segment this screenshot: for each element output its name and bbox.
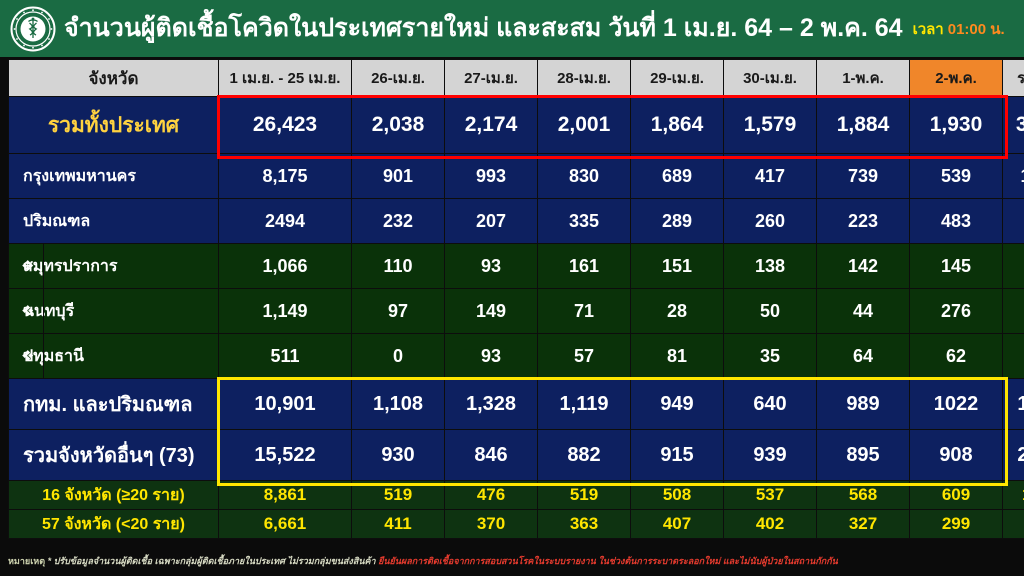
cell-total-r6: 18,056 <box>1003 379 1024 430</box>
cell-r6-c1: 1,108 <box>352 379 445 430</box>
column-header-range: 1 เม.ย. - 25 เม.ย. <box>219 60 352 97</box>
cell-r6-c6: 989 <box>817 379 910 430</box>
page-title: จำนวนผู้ติดเชื้อโควิดในประเทศรายใหม่ และ… <box>64 16 903 41</box>
column-header-province: จังหวัด <box>9 60 219 97</box>
cell-r7-c5: 939 <box>724 430 817 481</box>
table-row: ปริมณฑล24942322073352892602234834,290 <box>9 199 1024 244</box>
cell-total-r4: 1,864 <box>1003 289 1024 334</box>
cell-r3-c6: 142 <box>817 244 910 289</box>
cell-r1-c1: 901 <box>352 154 445 199</box>
column-header-apr30: 30-เม.ย. <box>724 60 817 97</box>
cell-r3-c1: 110 <box>352 244 445 289</box>
cell-r7-c0: 15,522 <box>219 430 352 481</box>
cell-r5-c1: 0 <box>352 334 445 379</box>
cell-r9-c0: 6,661 <box>219 510 352 539</box>
row-label-7: รวมจังหวัดอื่นๆ (73) <box>9 430 219 481</box>
table-row: 16 จังหวัด (≥20 ราย)8,861519476519508537… <box>9 481 1024 510</box>
column-header-apr28: 28-เม.ย. <box>538 60 631 97</box>
cell-r7-c4: 915 <box>631 430 724 481</box>
row-label-2: ปริมณฑล <box>9 199 219 244</box>
row-label-1: กรุงเทพมหานคร <box>9 154 219 199</box>
table-row: ❖ปทุมธานี5110935781356462903 <box>9 334 1024 379</box>
cell-r4-c5: 50 <box>724 289 817 334</box>
label-divider <box>43 289 44 333</box>
cell-r1-c3: 830 <box>538 154 631 199</box>
cell-r9-c5: 402 <box>724 510 817 539</box>
cell-r3-c4: 151 <box>631 244 724 289</box>
cell-r4-c0: 1,149 <box>219 289 352 334</box>
cell-r0-c2: 2,174 <box>445 97 538 154</box>
page-header-banner: จำนวนผู้ติดเชื้อโควิดในประเทศรายใหม่ และ… <box>0 0 1024 57</box>
cell-total-r7: 21,837 <box>1003 430 1024 481</box>
cell-r1-c0: 8,175 <box>219 154 352 199</box>
cell-r0-c6: 1,884 <box>817 97 910 154</box>
row-label-text: สมุทรปราการ <box>23 258 117 275</box>
table-row: 57 จังหวัด (<20 ราย)6,661411370363407402… <box>9 510 1024 539</box>
cell-r5-c6: 64 <box>817 334 910 379</box>
label-divider <box>43 334 44 378</box>
row-label-4: ❖นนทบุรี <box>9 289 219 334</box>
column-header-may02: 2-พ.ค. <box>910 60 1003 97</box>
cell-r2-c4: 289 <box>631 199 724 244</box>
cell-r0-c1: 2,038 <box>352 97 445 154</box>
cell-r8-c5: 537 <box>724 481 817 510</box>
cell-r7-c2: 846 <box>445 430 538 481</box>
cell-total-r5: 903 <box>1003 334 1024 379</box>
column-header-may01: 1-พ.ค. <box>817 60 910 97</box>
table-body: รวมทั้งประเทศ26,4232,0382,1742,0011,8641… <box>9 97 1024 539</box>
bullet-diamond-icon: ❖ <box>21 347 34 365</box>
cell-r3-c0: 1,066 <box>219 244 352 289</box>
cell-r4-c1: 97 <box>352 289 445 334</box>
column-header-apr26: 26-เม.ย. <box>352 60 445 97</box>
covid-statistics-table: จังหวัด 1 เม.ย. - 25 เม.ย. 26-เม.ย. 27-เ… <box>8 59 1024 539</box>
cell-r3-c7: 145 <box>910 244 1003 289</box>
cell-r8-c4: 508 <box>631 481 724 510</box>
row-label-9: 57 จังหวัด (<20 ราย) <box>9 510 219 539</box>
footnote-part-2: ยืนยันผลการติดเชื้อจากการสอบสวนโรคในระบบ… <box>378 556 838 566</box>
cell-r2-c1: 232 <box>352 199 445 244</box>
cell-r9-c7: 299 <box>910 510 1003 539</box>
row-label-5: ❖ปทุมธานี <box>9 334 219 379</box>
cell-r6-c2: 1,328 <box>445 379 538 430</box>
cell-r9-c6: 327 <box>817 510 910 539</box>
report-time-value: 01:00 น. <box>948 17 1005 41</box>
cell-r8-c6: 568 <box>817 481 910 510</box>
bullet-diamond-icon: ❖ <box>21 302 34 320</box>
cell-r2-c6: 223 <box>817 199 910 244</box>
cell-r9-c2: 370 <box>445 510 538 539</box>
footnote-label: หมายเหตุ <box>8 556 45 566</box>
cell-total-r0: 39,893 <box>1003 97 1024 154</box>
cell-r1-c2: 993 <box>445 154 538 199</box>
cell-r5-c0: 511 <box>219 334 352 379</box>
bullet-diamond-icon: ❖ <box>21 257 34 275</box>
cell-r5-c4: 81 <box>631 334 724 379</box>
cell-r0-c4: 1,864 <box>631 97 724 154</box>
table-row: รวมทั้งประเทศ26,4232,0382,1742,0011,8641… <box>9 97 1024 154</box>
cell-r0-c7: 1,930 <box>910 97 1003 154</box>
covid-statistics-table-container: จังหวัด 1 เม.ย. - 25 เม.ย. 26-เม.ย. 27-เ… <box>8 59 1016 539</box>
cell-total-r1: 13,283 <box>1003 154 1024 199</box>
label-divider <box>43 244 44 288</box>
row-label-3: ❖สมุทรปราการ <box>9 244 219 289</box>
cell-r4-c6: 44 <box>817 289 910 334</box>
cell-r1-c7: 539 <box>910 154 1003 199</box>
cell-r8-c1: 519 <box>352 481 445 510</box>
cell-r3-c3: 161 <box>538 244 631 289</box>
cell-r0-c3: 2,001 <box>538 97 631 154</box>
row-label-8: 16 จังหวัด (≥20 ราย) <box>9 481 219 510</box>
cell-r6-c0: 10,901 <box>219 379 352 430</box>
column-header-apr29: 29-เม.ย. <box>631 60 724 97</box>
table-row: ❖นนทบุรี1,14997149712850442761,864 <box>9 289 1024 334</box>
cell-total-r8: 12,597 <box>1003 481 1024 510</box>
cell-r2-c2: 207 <box>445 199 538 244</box>
cell-r9-c3: 363 <box>538 510 631 539</box>
column-header-total: รวม(ราย) <box>1003 60 1024 97</box>
cell-r4-c4: 28 <box>631 289 724 334</box>
row-label-6: กทม. และปริมณฑล <box>9 379 219 430</box>
cell-r4-c2: 149 <box>445 289 538 334</box>
footnote-part-1: * ปรับข้อมูลจำนวนผู้ติดเชื้อ เฉพาะกลุ่มผ… <box>48 556 376 566</box>
cell-r6-c7: 1022 <box>910 379 1003 430</box>
table-row: ❖สมุทรปราการ1,066110931611511381421452,0… <box>9 244 1024 289</box>
report-time: เวลา 01:00 น. <box>913 17 1005 41</box>
cell-total-r2: 4,290 <box>1003 199 1024 244</box>
table-row: รวมจังหวัดอื่นๆ (73)15,52293084688291593… <box>9 430 1024 481</box>
cell-r8-c2: 476 <box>445 481 538 510</box>
table-header-row: จังหวัด 1 เม.ย. - 25 เม.ย. 26-เม.ย. 27-เ… <box>9 60 1024 97</box>
cell-r0-c5: 1,579 <box>724 97 817 154</box>
cell-r7-c1: 930 <box>352 430 445 481</box>
cell-r0-c0: 26,423 <box>219 97 352 154</box>
cell-total-r9: 9,240 <box>1003 510 1024 539</box>
cell-r3-c2: 93 <box>445 244 538 289</box>
cell-r1-c4: 689 <box>631 154 724 199</box>
cell-r9-c4: 407 <box>631 510 724 539</box>
cell-r5-c3: 57 <box>538 334 631 379</box>
cell-r6-c4: 949 <box>631 379 724 430</box>
footnote: หมายเหตุ * ปรับข้อมูลจำนวนผู้ติดเชื้อ เฉ… <box>8 556 1018 568</box>
ministry-of-public-health-emblem-icon <box>10 6 56 52</box>
cell-r8-c7: 609 <box>910 481 1003 510</box>
cell-r7-c6: 895 <box>817 430 910 481</box>
cell-r6-c5: 640 <box>724 379 817 430</box>
cell-r8-c0: 8,861 <box>219 481 352 510</box>
cell-r4-c3: 71 <box>538 289 631 334</box>
cell-r5-c2: 93 <box>445 334 538 379</box>
cell-r7-c3: 882 <box>538 430 631 481</box>
table-header: จังหวัด 1 เม.ย. - 25 เม.ย. 26-เม.ย. 27-เ… <box>9 60 1024 97</box>
cell-r7-c7: 908 <box>910 430 1003 481</box>
cell-total-r3: 2,006 <box>1003 244 1024 289</box>
table-row: กทม. และปริมณฑล10,9011,1081,3281,1199496… <box>9 379 1024 430</box>
cell-r2-c0: 2494 <box>219 199 352 244</box>
cell-r2-c7: 483 <box>910 199 1003 244</box>
cell-r9-c1: 411 <box>352 510 445 539</box>
cell-r3-c5: 138 <box>724 244 817 289</box>
cell-r5-c5: 35 <box>724 334 817 379</box>
row-label-0: รวมทั้งประเทศ <box>9 97 219 154</box>
cell-r4-c7: 276 <box>910 289 1003 334</box>
cell-r2-c5: 260 <box>724 199 817 244</box>
cell-r6-c3: 1,119 <box>538 379 631 430</box>
cell-r8-c3: 519 <box>538 481 631 510</box>
screenshot-root: จำนวนผู้ติดเชื้อโควิดในประเทศรายใหม่ และ… <box>0 0 1024 576</box>
report-time-label: เวลา <box>913 17 944 41</box>
column-header-apr27: 27-เม.ย. <box>445 60 538 97</box>
table-row: กรุงเทพมหานคร8,1759019938306894177395391… <box>9 154 1024 199</box>
cell-r5-c7: 62 <box>910 334 1003 379</box>
cell-r2-c3: 335 <box>538 199 631 244</box>
cell-r1-c6: 739 <box>817 154 910 199</box>
cell-r1-c5: 417 <box>724 154 817 199</box>
